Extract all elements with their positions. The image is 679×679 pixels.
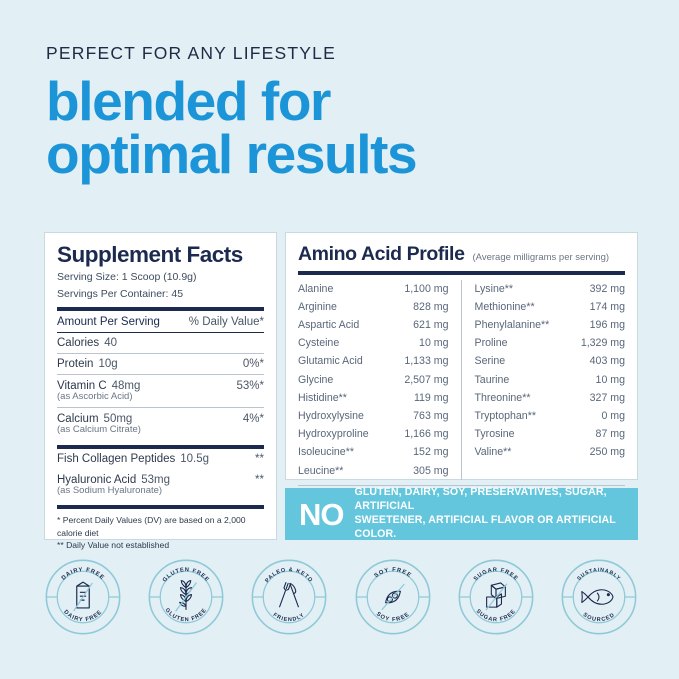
footnote-not-established: ** Daily Value not established xyxy=(57,539,264,551)
amino-value: 305 mg xyxy=(413,462,448,480)
nutrient-dv: 0%* xyxy=(243,358,264,370)
amino-name: Aspartic Acid xyxy=(298,316,359,334)
nutrient-amount: 40 xyxy=(104,337,117,349)
table-row: Calories40 xyxy=(57,333,264,353)
amino-acid-subtitle: (Average milligrams per serving) xyxy=(473,252,610,263)
col-header-amount: Amount Per Serving xyxy=(57,316,160,328)
amino-name: Histidine** xyxy=(298,389,347,407)
pea-pod-icon xyxy=(382,585,404,610)
list-item: Histidine**119 mg xyxy=(298,389,449,407)
list-item: Proline1,329 mg xyxy=(475,334,626,352)
nutrient-source-note: (as Sodium Hyaluronate) xyxy=(57,485,264,501)
amino-name: Threonine** xyxy=(475,389,531,407)
badge-dairy-free: DAIRY FREE DAIRY FREE xyxy=(44,558,122,636)
nutrient-name: Hyaluronic Acid xyxy=(57,474,136,486)
amino-value: 196 mg xyxy=(590,316,625,334)
amino-name: Cysteine xyxy=(298,334,339,352)
fish-icon xyxy=(582,590,613,605)
nutrient-dv: 4%* xyxy=(243,413,264,425)
amino-value: 0 mg xyxy=(601,407,625,425)
supplement-facts-title: Supplement Facts xyxy=(57,243,264,267)
amino-value: 1,133 mg xyxy=(404,352,448,370)
amino-name: Isoleucine** xyxy=(298,443,354,461)
table-row: Fish Collagen Peptides10.5g ** xyxy=(57,449,264,469)
svg-text:SUGAR FREE: SUGAR FREE xyxy=(473,567,519,582)
list-item: Threonine**327 mg xyxy=(475,389,626,407)
nutrient-name: Calories xyxy=(57,337,99,349)
svg-text:SOY FREE: SOY FREE xyxy=(373,567,412,579)
amino-acid-title: Amino Acid Profile xyxy=(298,243,465,266)
nutrient-name: Protein xyxy=(57,358,93,370)
svg-text:SOY FREE: SOY FREE xyxy=(374,611,410,623)
amino-value: 403 mg xyxy=(590,352,625,370)
badge-sustainably-sourced: SUSTAINABLY SOURCED xyxy=(560,558,638,636)
supplement-facts-column-headers: Amount Per Serving % Daily Value* xyxy=(57,311,264,332)
amino-acid-profile-panel: Amino Acid Profile (Average milligrams p… xyxy=(285,232,638,480)
badge-soy-free: SOY FREE SOY FREE xyxy=(354,558,432,636)
amino-value: 174 mg xyxy=(590,298,625,316)
amino-value: 327 mg xyxy=(590,389,625,407)
list-item: Valine**250 mg xyxy=(475,443,626,461)
milk-carton-icon xyxy=(74,582,93,611)
svg-text:SUGAR FREE: SUGAR FREE xyxy=(474,608,517,623)
amino-value: 392 mg xyxy=(590,280,625,298)
servings-per-container: Servings Per Container: 45 xyxy=(57,287,264,301)
amino-value: 152 mg xyxy=(413,443,448,461)
amino-acid-columns: Alanine1,100 mg Arginine828 mg Aspartic … xyxy=(298,280,625,480)
list-item: Arginine828 mg xyxy=(298,298,449,316)
sugar-cubes-icon xyxy=(486,583,507,610)
amino-name: Alanine xyxy=(298,280,333,298)
amino-name: Phenylalanine** xyxy=(475,316,550,334)
page-title: blended for optimal results xyxy=(46,75,646,181)
amino-name: Glycine xyxy=(298,371,333,389)
no-claims-text: GLUTEN, DAIRY, SOY, PRESERVATIVES, SUGAR… xyxy=(355,486,625,542)
svg-text:GLUTEN FREE: GLUTEN FREE xyxy=(162,567,210,583)
list-item: Tryptophan**0 mg xyxy=(475,407,626,425)
amino-name: Methionine** xyxy=(475,298,535,316)
nutrient-amount: 50mg xyxy=(104,413,133,425)
list-item: Aspartic Acid621 mg xyxy=(298,316,449,334)
supplement-facts-panel: Supplement Facts Serving Size: 1 Scoop (… xyxy=(44,232,277,540)
amino-value: 10 mg xyxy=(596,371,625,389)
amino-value: 2,507 mg xyxy=(404,371,448,389)
no-claims-banner: NO GLUTEN, DAIRY, SOY, PRESERVATIVES, SU… xyxy=(285,488,638,540)
amino-value: 763 mg xyxy=(413,407,448,425)
amino-value: 1,329 mg xyxy=(581,334,625,352)
amino-name: Serine xyxy=(475,352,506,370)
amino-value: 10 mg xyxy=(419,334,448,352)
list-item: Leucine**305 mg xyxy=(298,462,449,480)
nutrient-dv: 53%* xyxy=(237,380,265,392)
footnote-daily-value: * Percent Daily Values (DV) are based on… xyxy=(57,514,264,539)
svg-text:DAIRY FREE: DAIRY FREE xyxy=(61,567,106,581)
headline-block: PERFECT FOR ANY LIFESTYLE blended for op… xyxy=(46,44,646,181)
serving-size: Serving Size: 1 Scoop (10.9g) xyxy=(57,270,264,284)
amino-acid-header: Amino Acid Profile (Average milligrams p… xyxy=(298,243,625,266)
nutrient-dv: ** xyxy=(255,453,264,465)
svg-text:PALEO & KETO: PALEO & KETO xyxy=(265,567,314,584)
nutrient-source-note: (as Ascorbic Acid) xyxy=(57,391,264,407)
list-item: Tyrosine87 mg xyxy=(475,425,626,443)
headline-line-2: optimal results xyxy=(46,128,646,181)
amino-name: Tryptophan** xyxy=(475,407,536,425)
table-row: Protein10g 0%* xyxy=(57,354,264,374)
nutrient-source-note: (as Calcium Citrate) xyxy=(57,424,264,440)
fork-knife-icon xyxy=(278,582,302,607)
list-item: Methionine**174 mg xyxy=(475,298,626,316)
certification-badges: DAIRY FREE DAIRY FREE xyxy=(44,558,638,636)
svg-text:SOURCED: SOURCED xyxy=(582,612,617,623)
amino-value: 1,100 mg xyxy=(404,280,448,298)
table-row: Hyaluronic Acid53mg ** (as Sodium Hyalur… xyxy=(57,469,264,501)
amino-name: Glutamic Acid xyxy=(298,352,363,370)
amino-name: Hydroxylysine xyxy=(298,407,364,425)
nutrient-amount: 53mg xyxy=(141,474,170,486)
amino-acid-column-left: Alanine1,100 mg Arginine828 mg Aspartic … xyxy=(298,280,462,480)
amino-name: Valine** xyxy=(475,443,512,461)
panels-container: Supplement Facts Serving Size: 1 Scoop (… xyxy=(44,232,638,542)
amino-name: Lysine** xyxy=(475,280,513,298)
list-item: Alanine1,100 mg xyxy=(298,280,449,298)
svg-text:SUSTAINABLY: SUSTAINABLY xyxy=(576,567,621,582)
amino-acid-column-right: Lysine**392 mg Methionine**174 mg Phenyl… xyxy=(462,280,626,480)
list-item: Hydroxylysine763 mg xyxy=(298,407,449,425)
amino-value: 119 mg xyxy=(414,389,449,407)
amino-name: Leucine** xyxy=(298,462,343,480)
list-item: Glycine2,507 mg xyxy=(298,371,449,389)
list-item: Serine403 mg xyxy=(475,352,626,370)
eyebrow-text: PERFECT FOR ANY LIFESTYLE xyxy=(46,44,646,63)
badge-sugar-free: SUGAR FREE SUGAR FREE xyxy=(457,558,535,636)
amino-name: Arginine xyxy=(298,298,337,316)
wheat-icon xyxy=(176,581,196,611)
badge-paleo-keto-friendly: PALEO & KETO FRIENDLY xyxy=(250,558,328,636)
list-item: Lysine**392 mg xyxy=(475,280,626,298)
svg-text:FRIENDLY: FRIENDLY xyxy=(272,612,306,623)
col-header-dv: % Daily Value* xyxy=(189,316,264,328)
divider-thick-amino xyxy=(298,271,625,275)
no-word: NO xyxy=(299,499,344,530)
list-item: Taurine10 mg xyxy=(475,371,626,389)
amino-name: Taurine xyxy=(475,371,510,389)
table-row: Vitamin C48mg 53%* (as Ascorbic Acid) xyxy=(57,375,264,407)
nutrient-amount: 10g xyxy=(98,358,117,370)
list-item: Cysteine10 mg xyxy=(298,334,449,352)
amino-value: 828 mg xyxy=(413,298,448,316)
nutrient-amount: 10.5g xyxy=(180,453,209,465)
list-item: Hydroxyproline1,166 mg xyxy=(298,425,449,443)
list-item: Phenylalanine**196 mg xyxy=(475,316,626,334)
amino-value: 621 mg xyxy=(413,316,448,334)
nutrient-dv: ** xyxy=(255,474,264,486)
list-item: Glutamic Acid1,133 mg xyxy=(298,352,449,370)
amino-value: 87 mg xyxy=(596,425,625,443)
amino-name: Proline xyxy=(475,334,508,352)
amino-value: 250 mg xyxy=(590,443,625,461)
list-item: Isoleucine**152 mg xyxy=(298,443,449,461)
amino-name: Tyrosine xyxy=(475,425,515,443)
nutrient-name: Calcium xyxy=(57,413,99,425)
svg-text:DAIRY FREE: DAIRY FREE xyxy=(62,609,103,623)
amino-value: 1,166 mg xyxy=(404,425,448,443)
amino-name: Hydroxyproline xyxy=(298,425,369,443)
badge-gluten-free: GLUTEN FREE GLUTEN FREE xyxy=(147,558,225,636)
nutrient-name: Fish Collagen Peptides xyxy=(57,453,175,465)
table-row: Calcium50mg 4%* (as Calcium Citrate) xyxy=(57,408,264,440)
divider-thick-bottom xyxy=(57,505,264,509)
no-claims-line-1: GLUTEN, DAIRY, SOY, PRESERVATIVES, SUGAR… xyxy=(355,486,625,514)
no-claims-line-2: SWEETENER, ARTIFICIAL FLAVOR OR ARTIFICI… xyxy=(355,514,625,542)
